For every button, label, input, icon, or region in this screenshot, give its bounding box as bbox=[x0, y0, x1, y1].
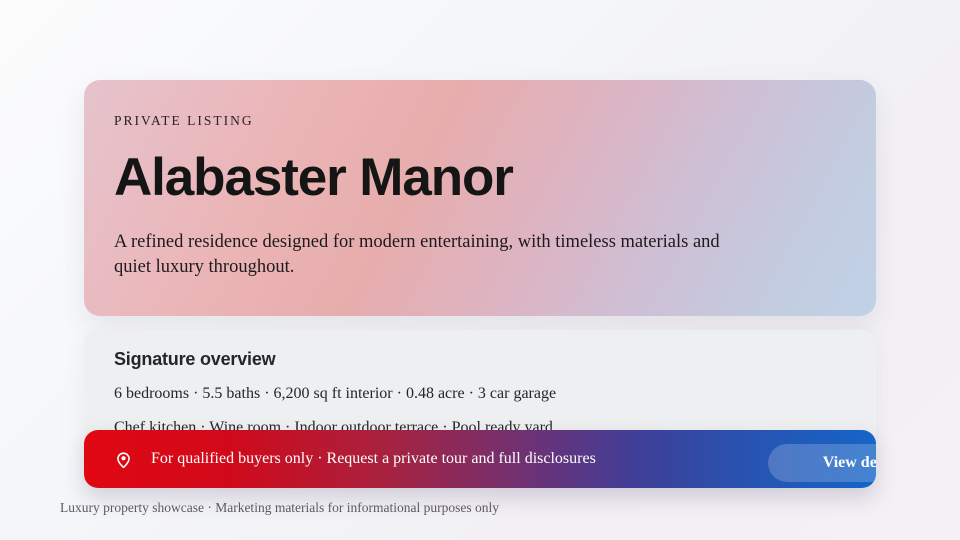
overview-specs-primary: 6 bedrooms · 5.5 baths · 6,200 sq ft int… bbox=[114, 370, 854, 404]
page-title: Alabaster Manor bbox=[114, 128, 846, 206]
overview-heading: Signature overview bbox=[114, 350, 854, 370]
qualified-buyers-banner: For qualified buyers only · Request a pr… bbox=[84, 430, 876, 488]
hero-subtitle: A refined residence designed for modern … bbox=[114, 206, 720, 281]
map-pin-icon bbox=[114, 450, 133, 469]
footer-disclaimer: Luxury property showcase · Marketing mat… bbox=[60, 500, 499, 516]
overview-content: Signature overview 6 bedrooms · 5.5 bath… bbox=[114, 350, 854, 438]
hero-content: PRIVATE LISTING Alabaster Manor A refine… bbox=[114, 114, 846, 280]
listing-showcase-page: PRIVATE LISTING Alabaster Manor A refine… bbox=[0, 0, 960, 540]
hero-card: PRIVATE LISTING Alabaster Manor A refine… bbox=[84, 80, 876, 316]
banner-message: For qualified buyers only · Request a pr… bbox=[151, 451, 596, 467]
hero-eyebrow: PRIVATE LISTING bbox=[114, 114, 846, 128]
view-details-button[interactable]: View details bbox=[768, 444, 876, 482]
banner-message-group: For qualified buyers only · Request a pr… bbox=[114, 430, 596, 488]
